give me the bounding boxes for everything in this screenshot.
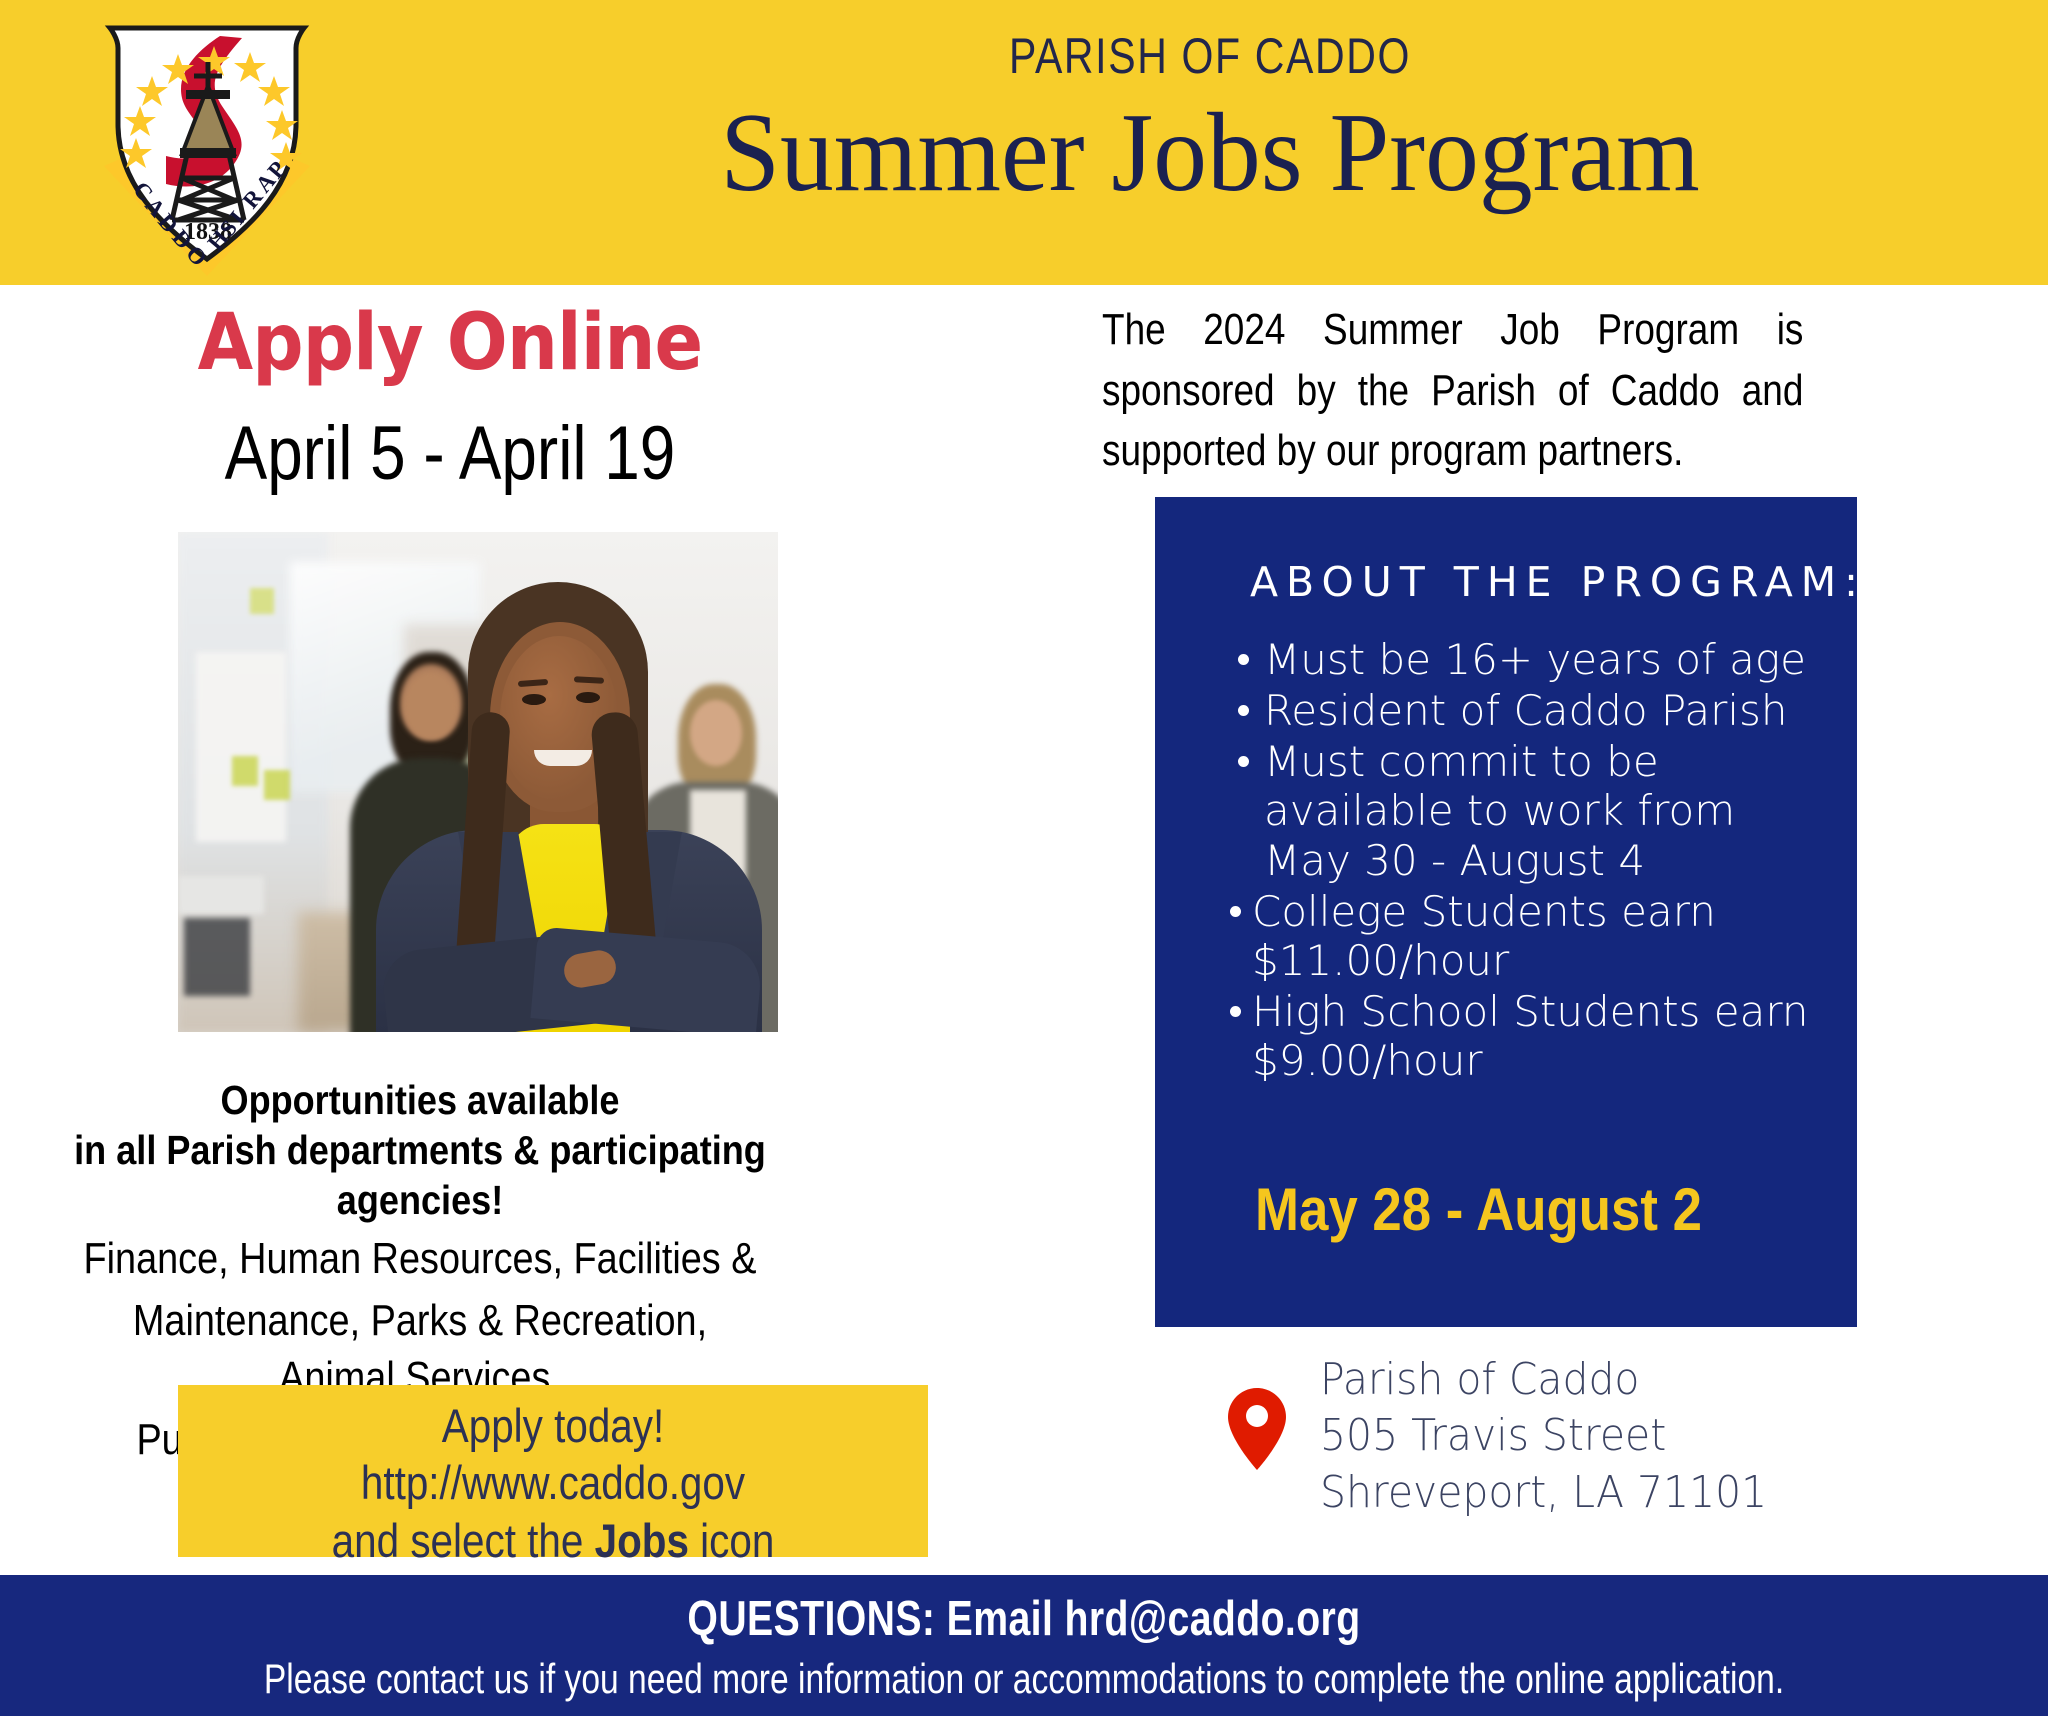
cta-url[interactable]: http://www.caddo.gov bbox=[231, 1454, 876, 1511]
bullet-line: Resident of Caddo Parish bbox=[1264, 686, 1788, 735]
list-item: High School Students earn $9.00/hour bbox=[1230, 987, 1850, 1085]
list-item: College Students earn $11.00/hour bbox=[1230, 887, 1850, 985]
header-kicker: PARISH OF CADDO bbox=[570, 30, 1849, 83]
address-line-2: 505 Travis Street bbox=[1320, 1408, 1767, 1464]
footer-bar: QUESTIONS: Email hrd@caddo.org Please co… bbox=[0, 1575, 2048, 1716]
application-window-dates: April 5 - April 19 bbox=[173, 410, 727, 497]
program-dates-highlight: May 28 - August 2 bbox=[1255, 1175, 1702, 1244]
bullet-line: Must commit to be bbox=[1264, 737, 1659, 786]
list-item: Resident of Caddo Parish bbox=[1230, 686, 1850, 735]
caddo-parish-crest-logo: 1838 C A D D O P A R I S H bbox=[82, 14, 332, 276]
bullet-line: May 30 - August 4 bbox=[1264, 836, 1645, 885]
bullet-line: $9.00/hour bbox=[1252, 1036, 1483, 1085]
bullet-line: College Students earn bbox=[1252, 887, 1716, 936]
cta-line-3: and select the Jobs icon bbox=[231, 1512, 876, 1569]
header-titles: PARISH OF CADDO Summer Jobs Program bbox=[430, 30, 1990, 216]
program-intro-paragraph: The 2024 Summer Job Program is sponsored… bbox=[1102, 300, 1803, 482]
header-bar: 1838 C A D D O P A R I S H PARISH OF CAD… bbox=[0, 0, 2048, 285]
bullet-line: Must be 16+ years of age bbox=[1264, 635, 1806, 684]
cta-line-3-prefix: and select the bbox=[332, 1514, 595, 1567]
program-photo bbox=[178, 532, 778, 1032]
address-line-3: Shreveport, LA 71101 bbox=[1320, 1465, 1767, 1521]
location-pin-icon bbox=[1228, 1388, 1286, 1470]
bullet-line: $11.00/hour bbox=[1252, 936, 1509, 985]
apply-cta-box[interactable]: Apply today! http://www.caddo.gov and se… bbox=[178, 1385, 928, 1557]
list-item: Must commit to be available to work from… bbox=[1230, 737, 1850, 884]
about-program-title: ABOUT THE PROGRAM: bbox=[1250, 558, 1866, 606]
cta-line-1: Apply today! bbox=[231, 1385, 876, 1454]
cta-line-3-suffix: icon bbox=[689, 1514, 774, 1567]
address-line-1: Parish of Caddo bbox=[1320, 1352, 1767, 1408]
about-program-bullets: Must be 16+ years of age Resident of Cad… bbox=[1230, 635, 1850, 1087]
page-title: Summer Jobs Program bbox=[461, 91, 1959, 216]
opportunities-line-1: Opportunities available bbox=[68, 1075, 772, 1125]
list-item: Must be 16+ years of age bbox=[1230, 635, 1850, 684]
footer-note: Please contact us if you need more infor… bbox=[205, 1647, 1843, 1703]
cta-jobs-keyword: Jobs bbox=[595, 1514, 689, 1567]
address-block: Parish of Caddo 505 Travis Street Shreve… bbox=[1320, 1352, 1767, 1521]
footer-questions[interactable]: QUESTIONS: Email hrd@caddo.org bbox=[205, 1575, 1843, 1647]
apply-online-heading: Apply Online bbox=[146, 298, 753, 388]
departments-line-1: Finance, Human Resources, Facilities & bbox=[76, 1231, 764, 1287]
opportunities-line-2: in all Parish departments & participatin… bbox=[68, 1125, 772, 1225]
bullet-line: available to work from bbox=[1264, 786, 1735, 835]
bullet-line: High School Students earn bbox=[1252, 987, 1809, 1036]
